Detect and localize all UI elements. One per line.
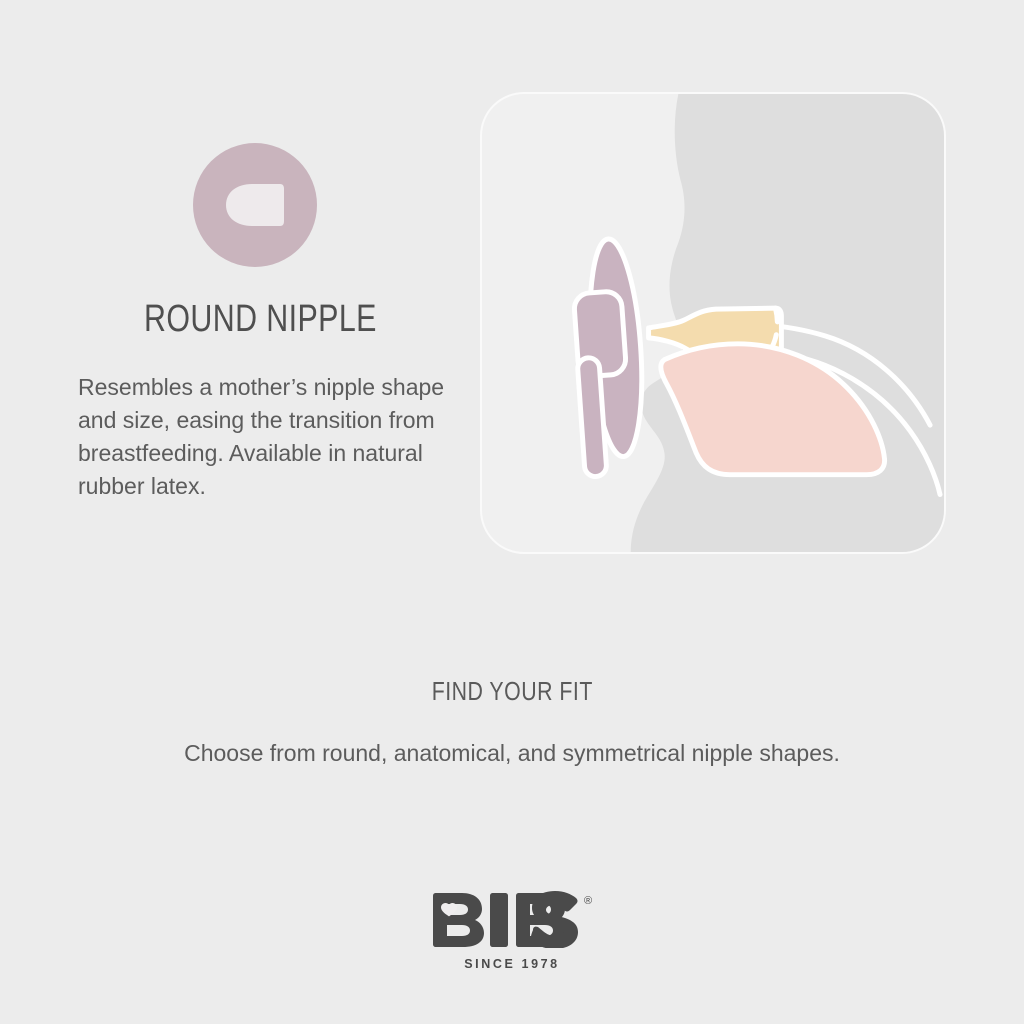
logo-letter-i xyxy=(490,893,508,947)
product-feature-card: ROUND NIPPLE Resembles a mother’s nipple… xyxy=(0,0,1024,1024)
brand-logo: ® SINCE 1978 xyxy=(0,890,1024,971)
round-nipple-shape-icon xyxy=(192,142,318,268)
registered-mark: ® xyxy=(584,895,592,907)
badge-nipple-cutout xyxy=(226,184,284,226)
find-your-fit-title-text: FIND YOUR FIT xyxy=(431,676,592,707)
find-your-fit-subtitle: Choose from round, anatomical, and symme… xyxy=(0,740,1024,767)
feature-description: Resembles a mother’s nipple shape and si… xyxy=(78,371,450,503)
feature-title: ROUND NIPPLE xyxy=(144,300,377,340)
brand-tagline: SINCE 1978 xyxy=(464,957,559,971)
illustration-card xyxy=(480,92,946,554)
find-your-fit-title: FIND YOUR FIT xyxy=(0,676,1024,707)
logo-letter-b1 xyxy=(433,893,484,947)
bibs-wordmark: ® xyxy=(432,890,592,948)
